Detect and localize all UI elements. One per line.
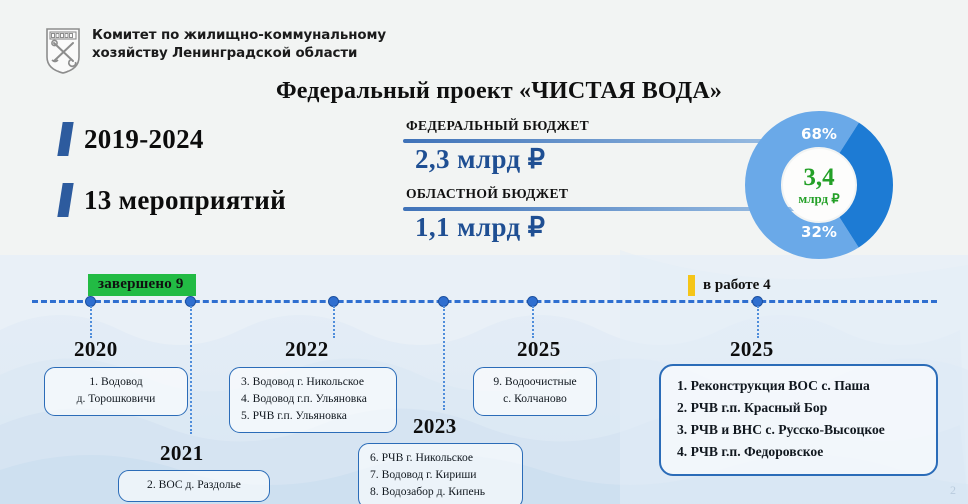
timeline-axis [32,300,937,303]
federal-budget-bar [403,139,793,143]
organization-line-2: хозяйству Ленинградской области [92,45,386,63]
timeline-connector [443,306,445,410]
timeline-connector [190,306,192,434]
card-item: 3. РЧВ и ВНС с. Русско-Высоцкое [677,419,920,441]
card-item: 3. Водовод г. Никольское [241,374,385,391]
budget-donut-chart: 68% 32% 3,4 млрд ₽ [745,111,893,259]
timeline-card-2020[interactable]: 1. Водовод д. Торошковичи [44,367,188,416]
card-item: 1. Реконструкция ВОС с. Паша [677,375,920,397]
organization-line-1: Комитет по жилищно-коммунальному [92,27,386,45]
legend-in-progress-badge: в работе 4 [688,275,771,296]
timeline-card-2023[interactable]: 6. РЧВ г. Никольское 7. Водовод г. Кириш… [358,443,523,504]
card-item: 2. ВОС д. Раздолье [130,477,258,494]
donut-label-regional-percent: 32% [745,223,893,241]
donut-total-unit: млрд ₽ [798,192,839,206]
timeline-year-2021: 2021 [160,441,204,466]
stat-period-value: 2019-2024 [84,124,204,155]
timeline-year-2020: 2020 [74,337,118,362]
regional-budget-value: 1,1 млрд ₽ [415,212,545,243]
card-item: 6. РЧВ г. Никольское [370,450,511,467]
donut-label-federal-percent: 68% [745,125,893,143]
coat-of-arms-icon [44,27,82,75]
federal-budget-label: ФЕДЕРАЛЬНЫЙ БЮДЖЕТ [406,118,589,134]
card-item: 1. Водовод [56,374,176,391]
donut-center-total: 3,4 млрд ₽ [783,149,855,221]
legend-completed-badge: завершено 9 [88,274,196,296]
stat-period: 2019-2024 [60,122,204,156]
timeline-card-2025-completed[interactable]: 9. Водоочистные с. Колчаново [473,367,597,416]
card-item: 9. Водоочистные [485,374,585,391]
in-progress-marker-icon [688,275,695,296]
timeline-connector [757,306,759,338]
slide-header: Комитет по жилищно-коммунальному хозяйст… [44,27,386,75]
timeline-year-2023: 2023 [413,414,457,439]
federal-budget-value: 2,3 млрд ₽ [415,144,545,175]
stat-tick-icon [57,122,73,156]
timeline-card-2021[interactable]: 2. ВОС д. Раздолье [118,470,270,502]
timeline-connector [333,306,335,338]
card-item: 8. Водозабор д. Кипень [370,484,511,501]
card-item: 7. Водовод г. Кириши [370,467,511,484]
timeline-year-2025: 2025 [517,337,561,362]
page-title: Федеральный проект «ЧИСТАЯ ВОДА» [0,78,968,105]
regional-budget-label: ОБЛАСТНОЙ БЮДЖЕТ [406,186,568,202]
stat-events: 13 мероприятий [60,183,286,217]
card-item: 5. РЧВ г.п. Ульяновка [241,408,385,425]
donut-total-value: 3,4 [803,165,834,191]
timeline-card-2022[interactable]: 3. Водовод г. Никольское 4. Водовод г.п.… [229,367,397,433]
timeline-connector [532,306,534,338]
card-item: с. Колчаново [485,391,585,408]
card-item: д. Торошковичи [56,391,176,408]
page-number: 2 [950,483,956,498]
organization-name: Комитет по жилищно-коммунальному хозяйст… [92,27,386,63]
card-item: 4. Водовод г.п. Ульяновка [241,391,385,408]
legend-in-progress-label: в работе 4 [703,277,771,294]
stat-events-value: 13 мероприятий [84,185,286,216]
card-item: 4. РЧВ г.п. Федоровское [677,441,920,463]
timeline-card-2025-in-progress[interactable]: 1. Реконструкция ВОС с. Паша 2. РЧВ г.п.… [659,364,938,476]
timeline-connector [90,306,92,338]
slide-root: Комитет по жилищно-коммунальному хозяйст… [0,0,968,504]
stat-tick-icon [57,183,73,217]
timeline-year-2025-in-progress: 2025 [730,337,774,362]
card-item: 2. РЧВ г.п. Красный Бор [677,397,920,419]
timeline-year-2022: 2022 [285,337,329,362]
